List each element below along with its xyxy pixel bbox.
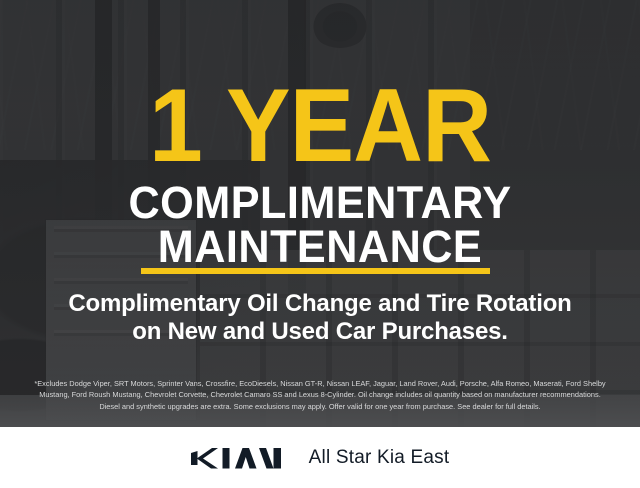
disclaimer-line-1: *Excludes Dodge Viper, SRT Motors, Sprin…: [14, 378, 626, 389]
subheadline-line-2: on New and Used Car Purchases.: [0, 318, 640, 346]
subheadline: Complimentary Oil Change and Tire Rotati…: [0, 290, 640, 346]
banner-content: 1 YEAR COMPLIMENTARY MAINTENANCE Complim…: [0, 0, 640, 488]
headline-maintenance: MAINTENANCE: [13, 224, 627, 269]
disclaimer-fine-print: *Excludes Dodge Viper, SRT Motors, Sprin…: [14, 378, 626, 412]
subheadline-line-1: Complimentary Oil Change and Tire Rotati…: [0, 290, 640, 318]
disclaimer-line-3: Diesel and synthetic upgrades are extra.…: [14, 401, 626, 412]
yellow-divider-rule: [141, 268, 490, 274]
dealer-footer: All Star Kia East: [0, 427, 640, 488]
headline-year: 1 YEAR: [22, 74, 617, 178]
promotional-banner: 1 YEAR COMPLIMENTARY MAINTENANCE Complim…: [0, 0, 640, 488]
kia-logo: [191, 445, 281, 471]
disclaimer-line-2: Mustang, Ford Roush Mustang, Chevrolet C…: [14, 389, 626, 400]
headline-complimentary: COMPLIMENTARY: [13, 180, 627, 225]
dealer-name: All Star Kia East: [309, 447, 450, 469]
